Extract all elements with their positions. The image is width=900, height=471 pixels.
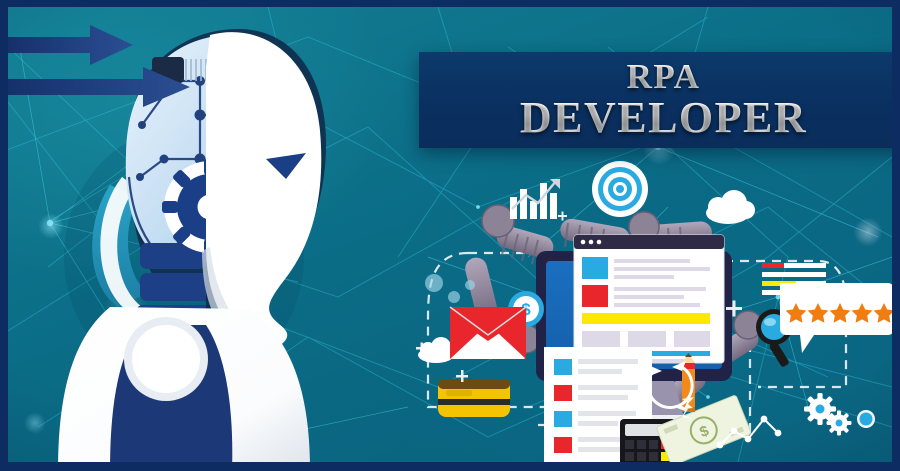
cloud-icon bbox=[706, 190, 755, 224]
robot-torso bbox=[58, 307, 310, 462]
outer-navy-frame: $ bbox=[0, 0, 900, 471]
star-rating-bubble-icon bbox=[780, 283, 892, 353]
arrow-right-icon bbox=[8, 25, 133, 65]
navy-arrows bbox=[8, 25, 318, 115]
shoulder-joint bbox=[132, 325, 200, 393]
credit-card-icon bbox=[438, 379, 510, 417]
title-line-1: RPA bbox=[627, 59, 701, 95]
browser-window-icon bbox=[574, 235, 724, 363]
swatch-red bbox=[582, 285, 608, 307]
cloud-icon bbox=[418, 337, 454, 363]
pill-icon bbox=[680, 337, 696, 345]
envelope-icon bbox=[450, 307, 526, 359]
info-badge-icon bbox=[857, 410, 875, 428]
rpa-automation-icon-cluster: $ bbox=[398, 157, 892, 462]
banner-image: $ bbox=[0, 0, 900, 471]
title-banner: RPA DEVELOPER bbox=[419, 52, 892, 148]
target-icon bbox=[592, 161, 648, 217]
arrow-right-icon bbox=[8, 67, 190, 107]
swatch-yellow bbox=[582, 313, 710, 324]
bar-chart-icon bbox=[510, 179, 560, 219]
swatch-cyan bbox=[582, 257, 608, 279]
title-line-2: DEVELOPER bbox=[520, 96, 807, 141]
gears-icon bbox=[804, 393, 851, 435]
inner-canvas: $ bbox=[8, 7, 892, 462]
